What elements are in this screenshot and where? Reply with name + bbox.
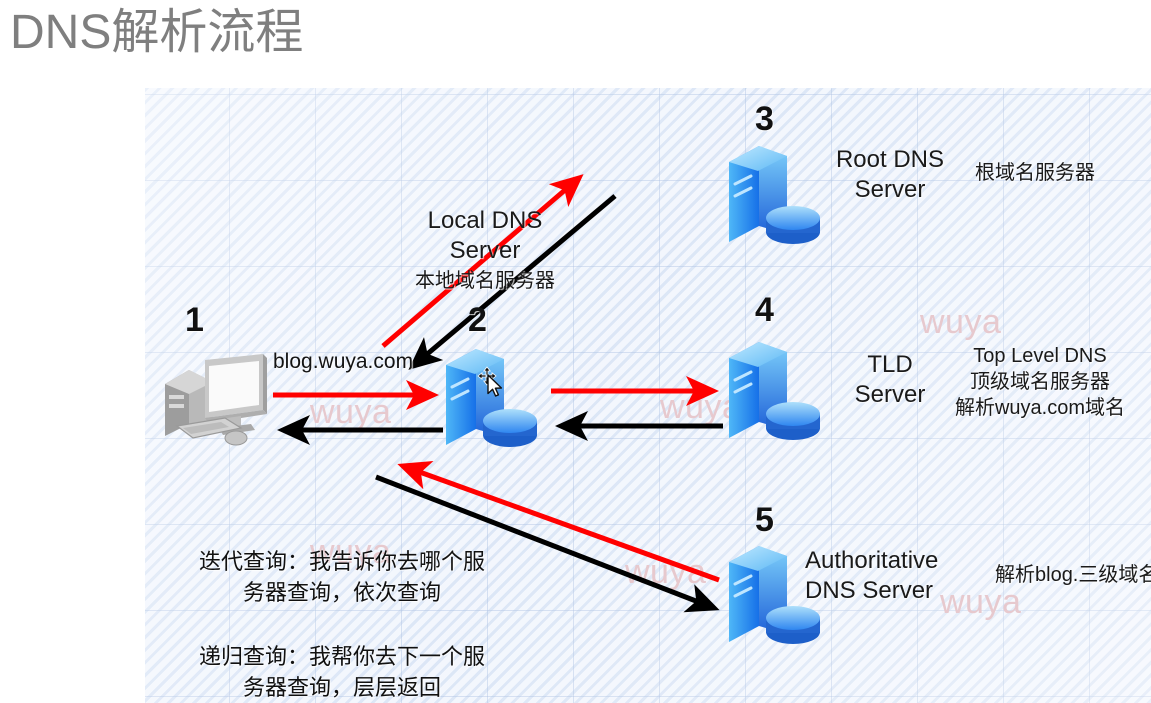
node-number-4: 4 [755,293,774,327]
node-local-dns-label-cn: 本地域名服务器 [375,268,595,294]
move-cursor [477,366,511,407]
node-local-dns-label-en: Local DNS Server [395,206,575,266]
desktop-computer-icon [163,348,271,448]
node-root-dns-label-cn: 根域名服务器 [935,160,1135,186]
node-number-1: 1 [185,303,204,337]
node-tld-dns-label-cn: Top Level DNS 顶级域名服务器 解析wuya.com域名 [925,343,1151,421]
page-title: DNS解析流程 [10,2,303,64]
node-number-3: 3 [755,102,774,136]
node-authoritative-dns-label-cn: 解析blog.三级域名 [995,562,1151,588]
server-icon [725,336,825,451]
watermark: wuya [625,553,706,592]
dns-resolution-diagram: wuya wuya wuya wuya wuya wuya wuya [145,88,1151,703]
query-domain-label: blog.wuya.com [273,350,413,374]
note-iterative-query: 迭代查询：我告诉你去哪个服 务器查询，依次查询 [157,546,527,608]
note-recursive-query: 递归查询：我帮你去下一个服 务器查询，层层返回 [157,641,527,703]
node-authoritative-dns-label-en: Authoritative DNS Server [805,546,1015,606]
watermark: wuya [310,393,391,432]
node-number-5: 5 [755,503,774,537]
watermark: wuya [920,303,1001,342]
node-number-2: 2 [468,303,487,337]
